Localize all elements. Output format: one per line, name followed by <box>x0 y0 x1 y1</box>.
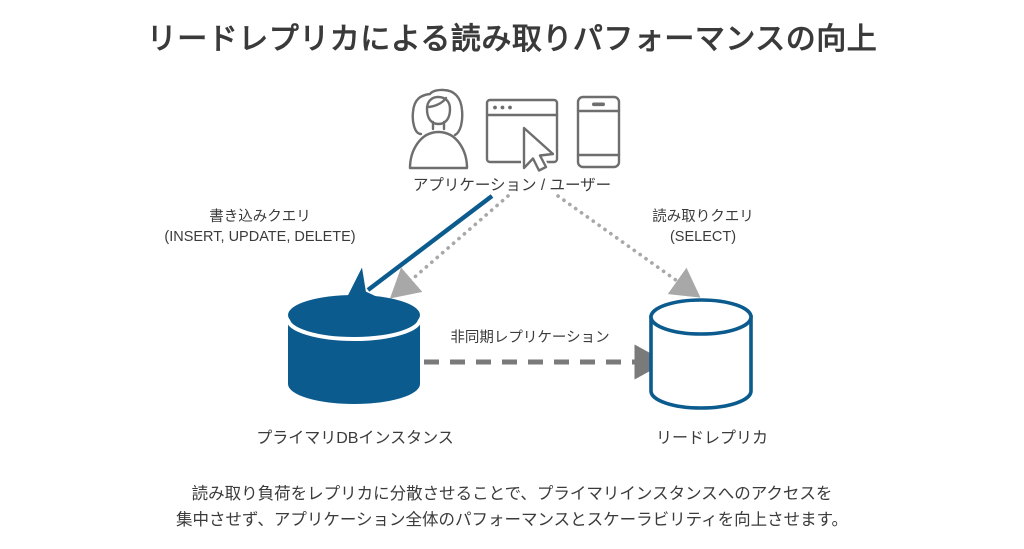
write-query-label-line2: (INSERT, UPDATE, DELETE) <box>110 228 410 248</box>
app-user-label: アプリケーション / ユーザー <box>0 176 1024 197</box>
architecture-diagram <box>0 0 1024 549</box>
read-replica-cylinder <box>651 300 751 408</box>
summary-caption-line1: 読み取り負荷をレプリカに分散させることで、プライマリインスタンスへのアクセスを <box>0 482 1024 508</box>
summary-caption: 読み取り負荷をレプリカに分散させることで、プライマリインスタンスへのアクセスを … <box>0 482 1024 533</box>
primary-db-label: プライマリDBインスタンス <box>205 428 505 450</box>
read-to-primary-dotted-arrow <box>409 196 508 282</box>
slide-canvas: リードレプリカによる読み取りパフォーマンスの向上 <box>0 0 1024 549</box>
mobile-phone-icon <box>578 97 619 167</box>
user-icon <box>410 90 467 168</box>
summary-caption-line2: 集中させず、アプリケーション全体のパフォーマンスとスケーラビリティを向上させます… <box>0 508 1024 534</box>
read-query-label-line2: (SELECT) <box>598 228 808 248</box>
app-user-icon-group <box>410 90 619 171</box>
primary-db-cylinder <box>288 295 420 404</box>
read-replica-label: リードレプリカ <box>562 428 862 450</box>
read-query-label-line1: 読み取りクエリ <box>598 208 808 228</box>
write-query-label-line1: 書き込みクエリ <box>110 208 410 228</box>
write-query-label: 書き込みクエリ (INSERT, UPDATE, DELETE) <box>110 208 410 247</box>
read-query-label: 読み取りクエリ (SELECT) <box>598 208 808 247</box>
cursor-pointer-icon <box>524 128 553 171</box>
replication-label: 非同期レプリケーション <box>400 329 660 349</box>
